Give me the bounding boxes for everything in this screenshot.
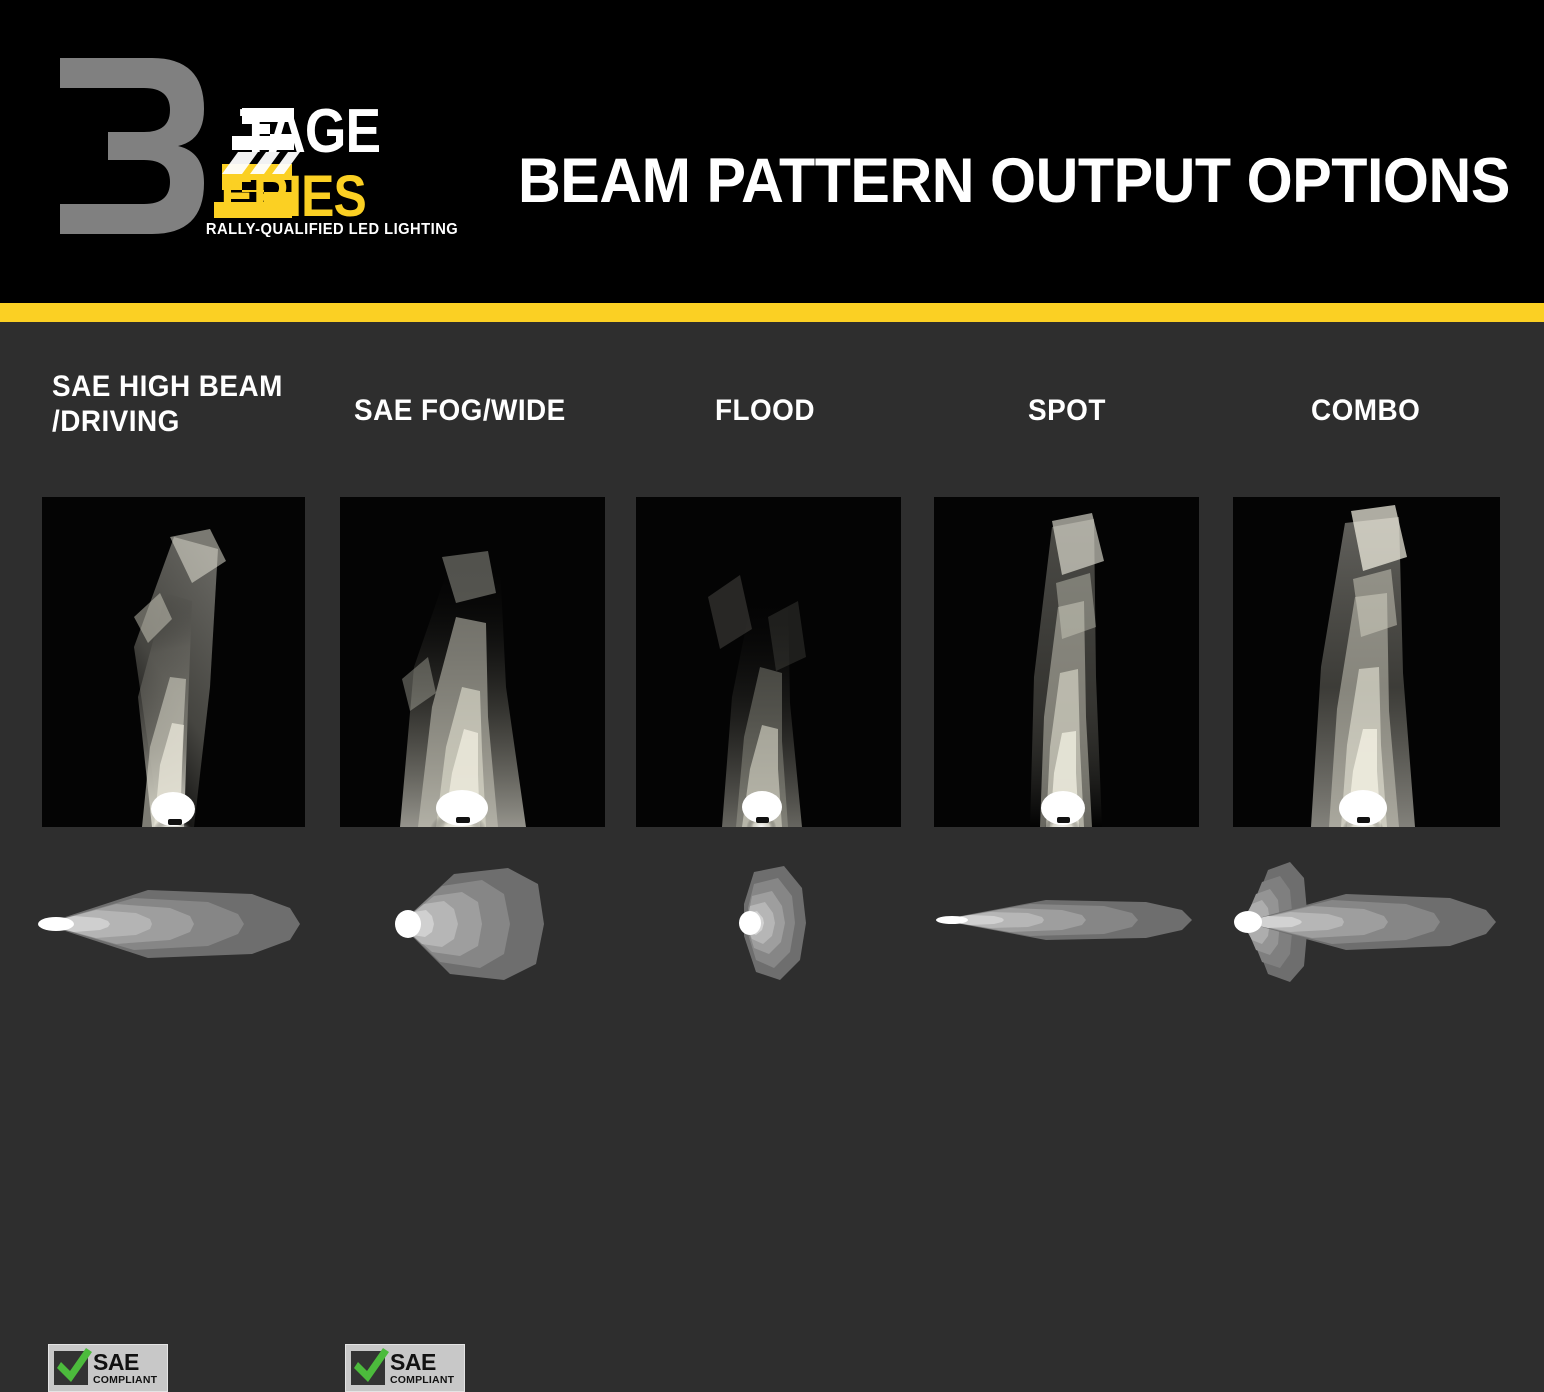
- night-road-photo: [1233, 497, 1500, 827]
- column-title-line1: FLOOD: [715, 394, 815, 427]
- beam-photo-sae-high-beam-driving: [42, 497, 305, 827]
- beam-diagram-spot: [936, 884, 1202, 956]
- beam-photo-spot: [934, 497, 1199, 827]
- night-road-photo: [42, 497, 305, 827]
- sae-badge-line1: SAE: [93, 1351, 157, 1374]
- brand-logo: TAGE ERIES RALLY-QUALIFIED LED LIGHTING: [52, 52, 482, 237]
- beam-shape-spot: [936, 884, 1202, 956]
- beam-diagram-combo: [1228, 856, 1510, 988]
- green-check-icon: [348, 1344, 394, 1392]
- sae-badge-text: SAE COMPLIANT: [93, 1351, 157, 1386]
- beam-shape-wide: [392, 862, 554, 986]
- sae-badge-line1: SAE: [390, 1351, 454, 1374]
- sae-badge-line2: COMPLIANT: [93, 1375, 157, 1386]
- night-road-photo: [340, 497, 605, 827]
- beam-photo-combo: [1233, 497, 1500, 827]
- sae-compliant-badge-fog-wide: SAE COMPLIANT: [345, 1344, 465, 1392]
- beam-shape-combo: [1228, 856, 1510, 988]
- beam-diagram-wide: [392, 862, 554, 986]
- green-check-icon: [51, 1344, 97, 1392]
- beam-shape-driving: [38, 874, 310, 974]
- beam-options-board: SAE HIGH BEAM /DRIVING: [0, 322, 1544, 1200]
- header-bar: TAGE ERIES RALLY-QUALIFIED LED LIGHTING …: [0, 0, 1544, 303]
- column-title-sae-high-beam-driving: SAE HIGH BEAM /DRIVING: [52, 370, 331, 439]
- column-title-sae-fog-wide: SAE FOG/WIDE: [354, 394, 614, 429]
- logo-tagline: RALLY-QUALIFIED LED LIGHTING: [206, 221, 458, 237]
- column-title-line1: SAE HIGH BEAM: [52, 370, 283, 403]
- sae-checkbox: [351, 1351, 385, 1385]
- sae-badge-text: SAE COMPLIANT: [390, 1351, 454, 1386]
- column-title-combo: COMBO: [1311, 394, 1534, 429]
- night-road-photo: [636, 497, 901, 827]
- column-title-line1: COMBO: [1311, 394, 1420, 427]
- svg-text:TAGE: TAGE: [239, 97, 380, 166]
- brand-logo-graphic: TAGE ERIES RALLY-QUALIFIED LED LIGHTING: [52, 52, 482, 237]
- sae-compliant-badge-driving: SAE COMPLIANT: [48, 1344, 168, 1392]
- column-title-flood: FLOOD: [715, 394, 938, 429]
- svg-text:ERIES: ERIES: [221, 165, 366, 229]
- page-title: BEAM PATTERN OUTPUT OPTIONS: [518, 150, 1467, 213]
- beam-photo-flood: [636, 497, 901, 827]
- column-title-spot: SPOT: [1028, 394, 1251, 429]
- beam-diagram-driving: [38, 874, 310, 974]
- logo-numeral-3: [60, 58, 204, 234]
- night-road-photo: [934, 497, 1199, 827]
- sae-checkbox: [54, 1351, 88, 1385]
- column-title-line2: /DRIVING: [52, 405, 180, 438]
- column-title-line1: SPOT: [1028, 394, 1106, 427]
- yellow-accent-bar: [0, 303, 1544, 322]
- column-title-line1: SAE FOG/WIDE: [354, 394, 566, 427]
- beam-photo-sae-fog-wide: [340, 497, 605, 827]
- beam-shape-flood: [730, 858, 814, 988]
- beam-diagram-flood: [730, 858, 814, 988]
- sae-badge-line2: COMPLIANT: [390, 1375, 454, 1386]
